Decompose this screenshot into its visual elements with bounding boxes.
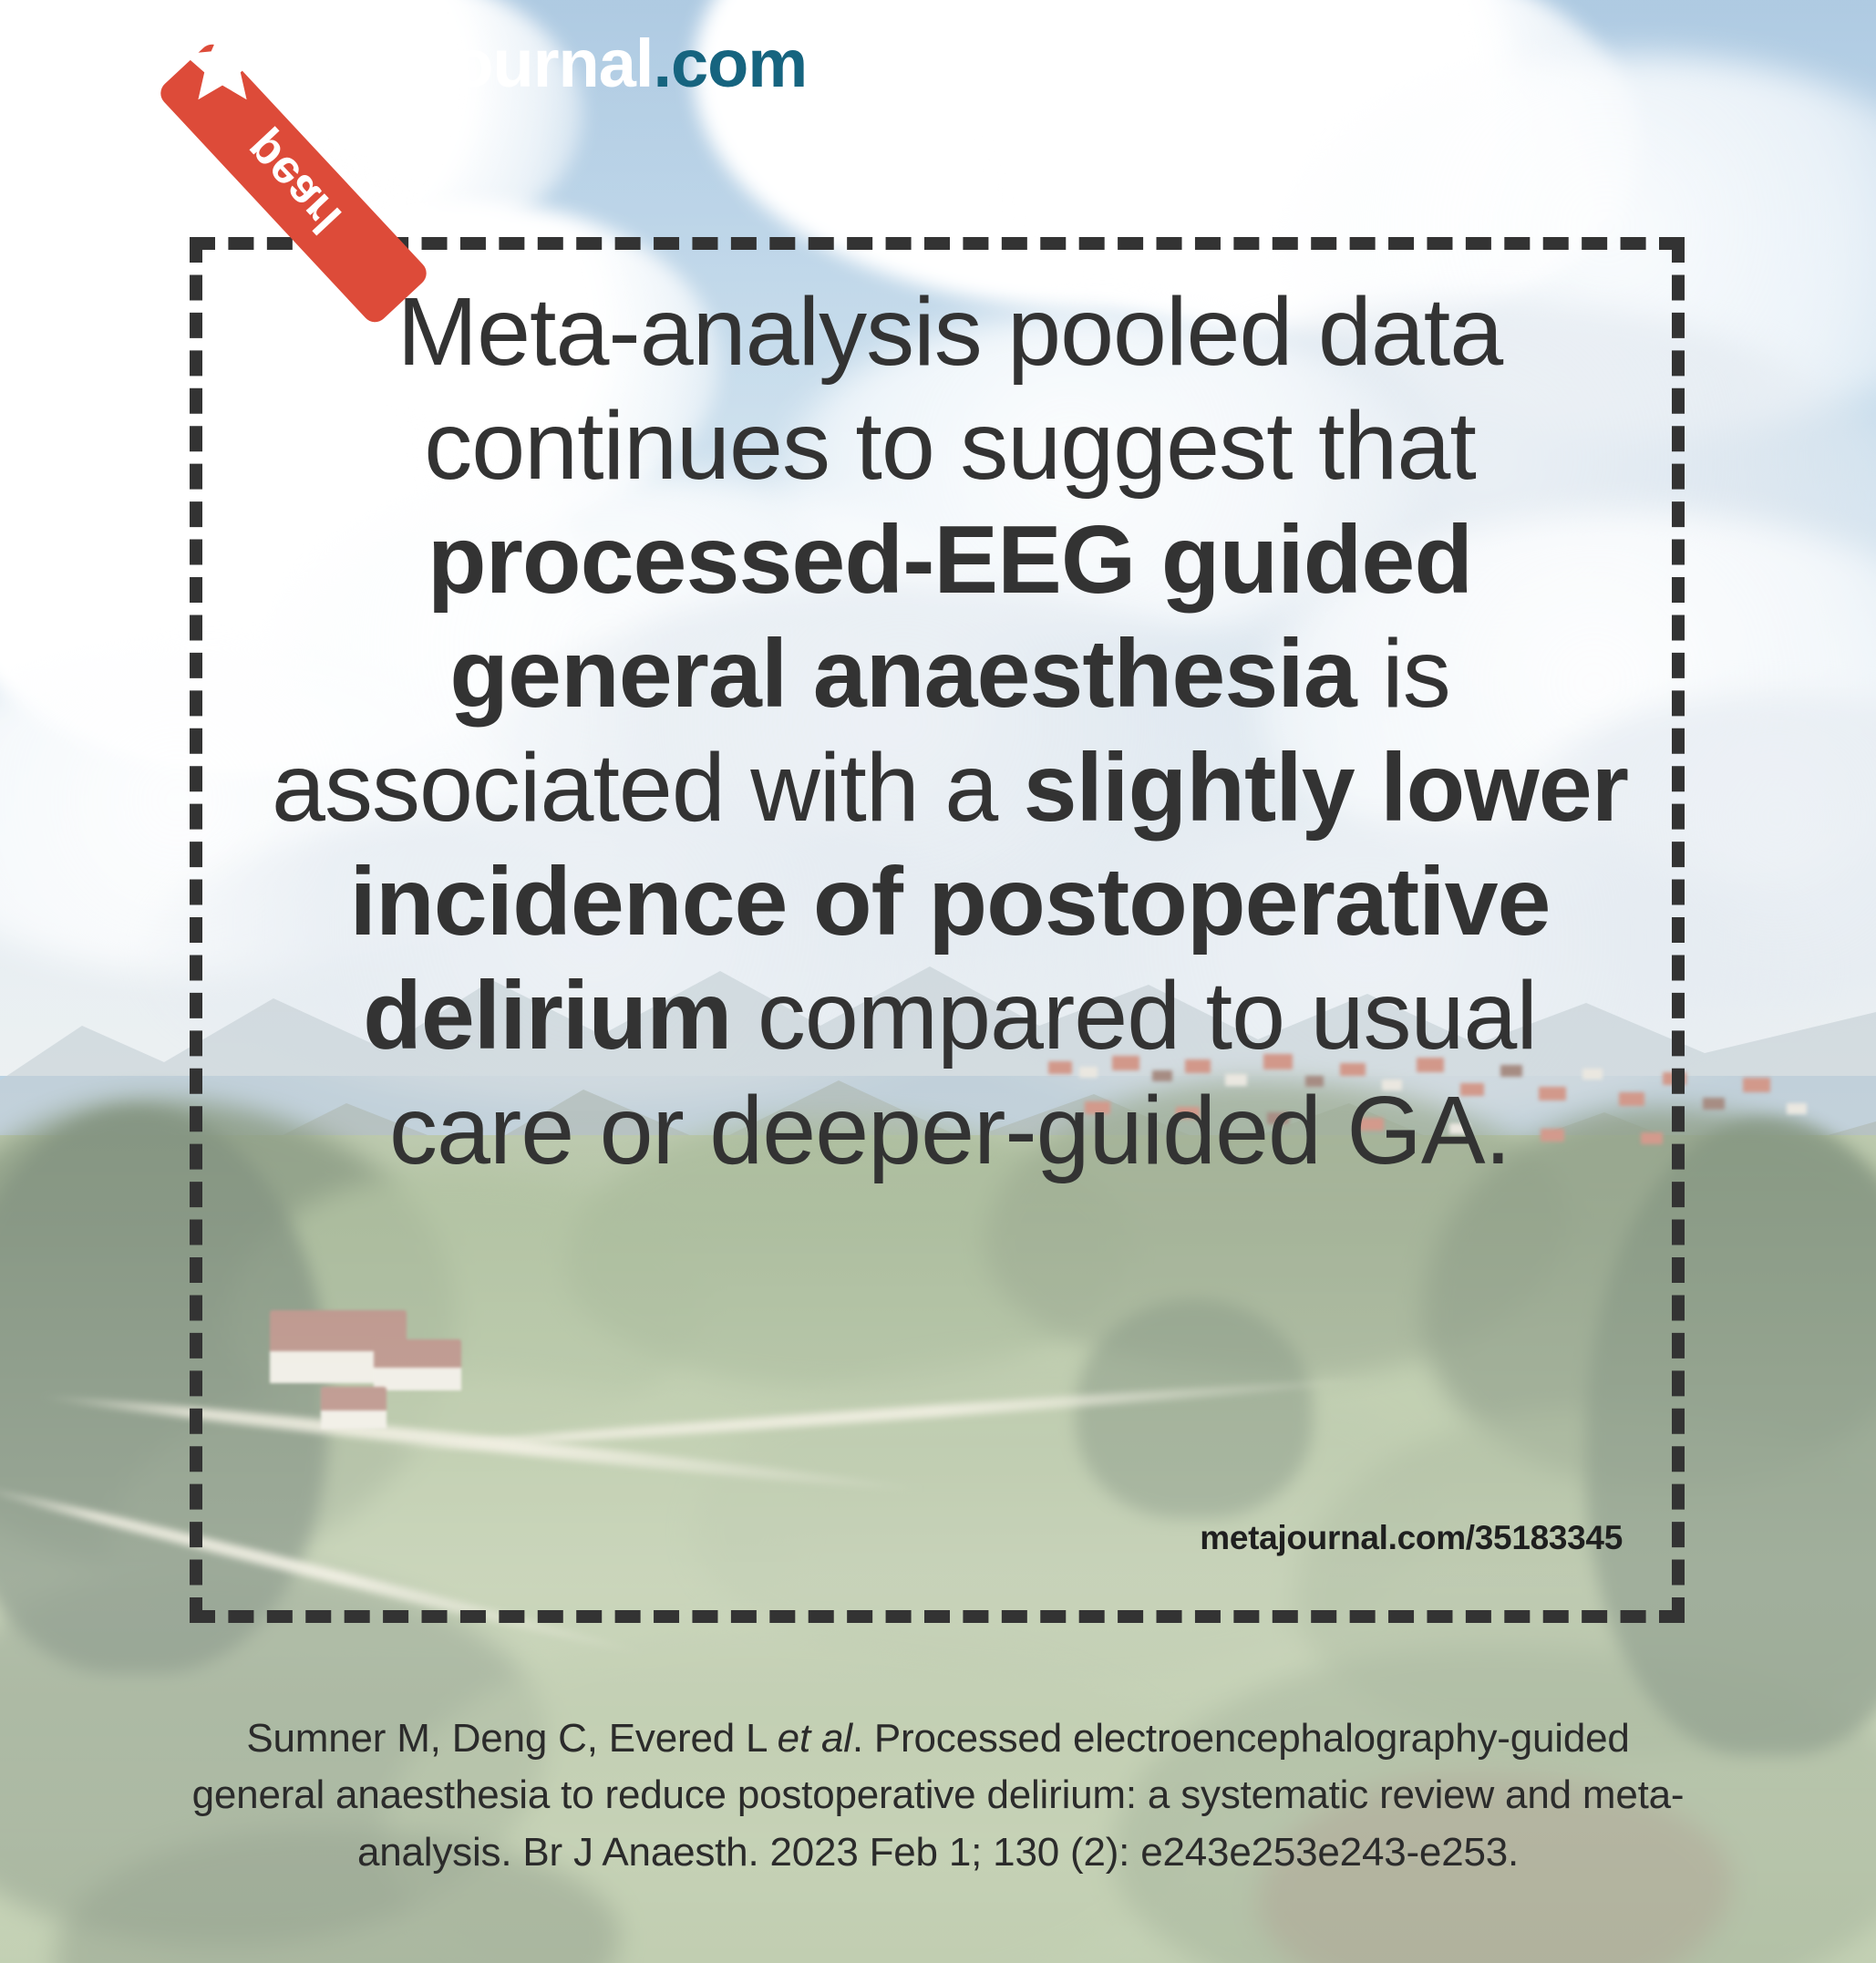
citation-et-al: et al: [778, 1716, 852, 1761]
pearl-quote: Meta-analysis pooled data continues to s…: [266, 275, 1634, 1188]
brand-name: metajournal: [281, 26, 653, 101]
citation-authors: Sumner M, Deng C, Evered L: [246, 1716, 777, 1761]
wordmark: metajournal.com: [281, 30, 807, 98]
pearl-card: pearl Meta-analysis pooled data continue…: [190, 237, 1685, 1623]
permalink-url[interactable]: metajournal.com/35183345: [1200, 1519, 1623, 1557]
citation-reference: Sumner M, Deng C, Evered L et al. Proces…: [179, 1710, 1697, 1881]
star-icon: [179, 20, 266, 108]
site-logo[interactable]: metajournal.com: [179, 20, 807, 108]
quote-seg-0: Meta-analysis pooled data continues to s…: [397, 278, 1502, 500]
brand-tld: .com: [653, 26, 807, 101]
quote-seg-1: processed-EEG guided general anaesthesia: [428, 506, 1472, 728]
citation-journal: Br J Anaesth. 2023 Feb 1; 130 (2): e243e…: [522, 1830, 1519, 1875]
